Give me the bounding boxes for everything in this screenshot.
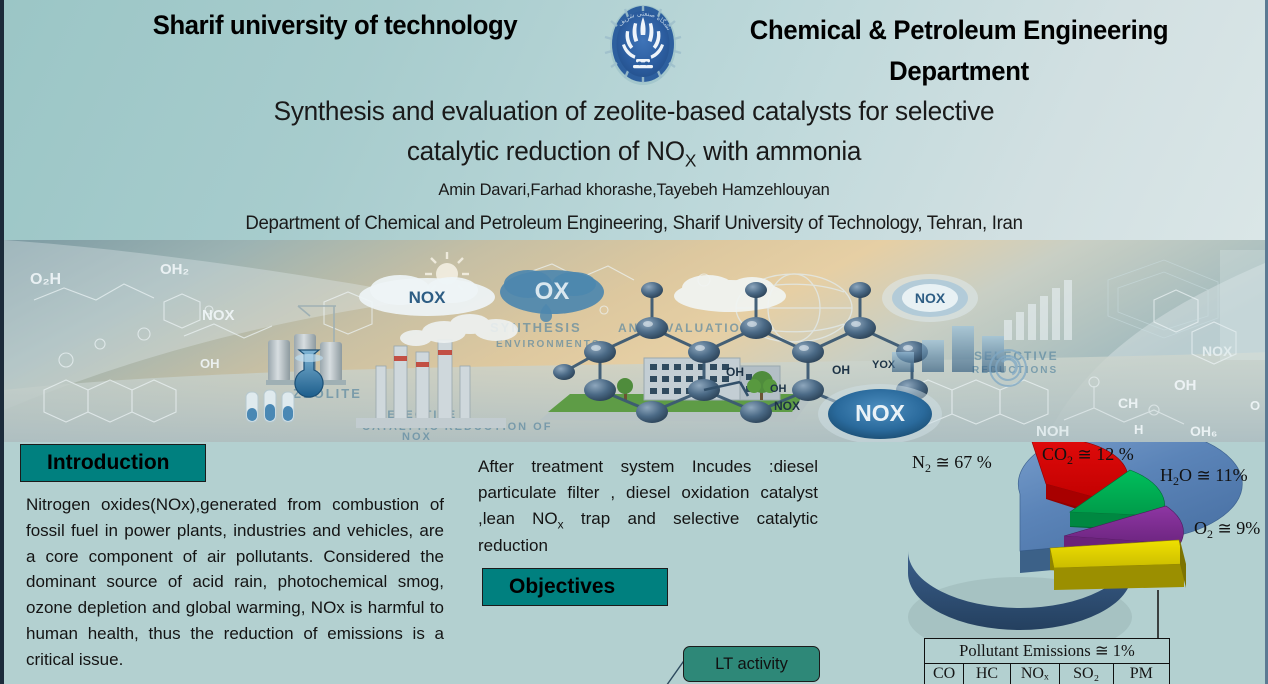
svg-text:ENVIRONMENTS: ENVIRONMENTS (496, 339, 601, 350)
table-cell-nox: NOₓ (1010, 664, 1059, 684)
table-row: CO HC NOₓ SO₂ PM (925, 664, 1170, 684)
svg-text:OH: OH (770, 383, 787, 395)
title-line-1: Synthesis and evaluation of zeolite-base… (274, 96, 995, 126)
lt-activity-node[interactable]: LT activity (683, 646, 820, 682)
hero-illustration: O₂H OH₂ NOX OH OH OH₆ H CH O (4, 240, 1265, 442)
svg-text:OH: OH (832, 363, 850, 377)
pie-label-n2: N2 ≅ 67 % (912, 452, 992, 475)
introduction-body-text: Nitrogen oxides(NOx),generated from comb… (26, 492, 444, 673)
pollutant-emissions-table: Pollutant Emissions ≅ 1% CO HC NOₓ SO₂ P… (924, 638, 1170, 684)
table-cell-co: CO (925, 664, 964, 684)
svg-text:OX: OX (535, 278, 570, 305)
poster-body: Introduction Nitrogen oxides(NOx),genera… (4, 442, 1265, 684)
page-title: Synthesis and evaluation of zeolite-base… (81, 92, 1187, 174)
svg-text:NOX: NOX (915, 290, 946, 306)
table-header-cell: Pollutant Emissions ≅ 1% (925, 639, 1170, 664)
department-name: Chemical & Petroleum Engineering Departm… (717, 10, 1202, 92)
svg-text:NOX: NOX (409, 288, 447, 307)
svg-text:NOX: NOX (855, 400, 906, 426)
svg-text:CH: CH (1118, 395, 1138, 411)
svg-text:O₂H: O₂H (30, 271, 61, 288)
svg-text:OH₂: OH₂ (160, 261, 189, 278)
table-cell-hc: HC (964, 664, 1011, 684)
svg-text:OH: OH (200, 356, 220, 371)
lt-activity-label: LT activity (715, 655, 788, 674)
svg-text:H: H (1134, 422, 1143, 437)
svg-text:OH₆: OH₆ (1190, 423, 1217, 439)
title-line-2-post: with ammonia (696, 136, 861, 166)
university-name: Sharif university of technology (112, 10, 559, 41)
aftertreatment-text: After treatment system Incudes :diesel p… (478, 454, 818, 559)
poster-canvas: Sharif university of technology (0, 0, 1268, 684)
objectives-label: Objectives (509, 575, 615, 599)
affiliation-line: Department of Chemical and Petroleum Eng… (56, 213, 1212, 235)
svg-text:OH: OH (1174, 377, 1197, 394)
svg-text:NOX: NOX (202, 307, 235, 324)
sharif-university-logo-icon: دانشگاه صنعتی شریف (600, 1, 686, 87)
svg-text:NOX: NOX (402, 431, 432, 442)
poster-header: Sharif university of technology (4, 0, 1265, 240)
introduction-label: Introduction (47, 451, 169, 475)
authors-line: Amin Davari,Farhad khorashe,Tayebeh Hamz… (64, 181, 1204, 200)
svg-text:NOH: NOH (1036, 423, 1069, 440)
table-cell-pm: PM (1113, 664, 1169, 684)
svg-text:O: O (1250, 398, 1260, 413)
section-header-objectives: Objectives (482, 568, 668, 606)
table-cell-so2: SO₂ (1059, 664, 1113, 684)
title-nox-subscript: X (685, 150, 696, 170)
svg-text:NOX: NOX (774, 399, 800, 413)
table-row-header: Pollutant Emissions ≅ 1% (925, 639, 1170, 664)
section-header-introduction: Introduction (20, 444, 206, 482)
svg-text:OH: OH (726, 365, 744, 379)
pie-label-co2: CO2 ≅ 12 % (1042, 444, 1134, 467)
title-line-2-pre: catalytic reduction of NO (407, 136, 685, 166)
pie-label-o2: O2 ≅ 9% (1194, 518, 1260, 541)
